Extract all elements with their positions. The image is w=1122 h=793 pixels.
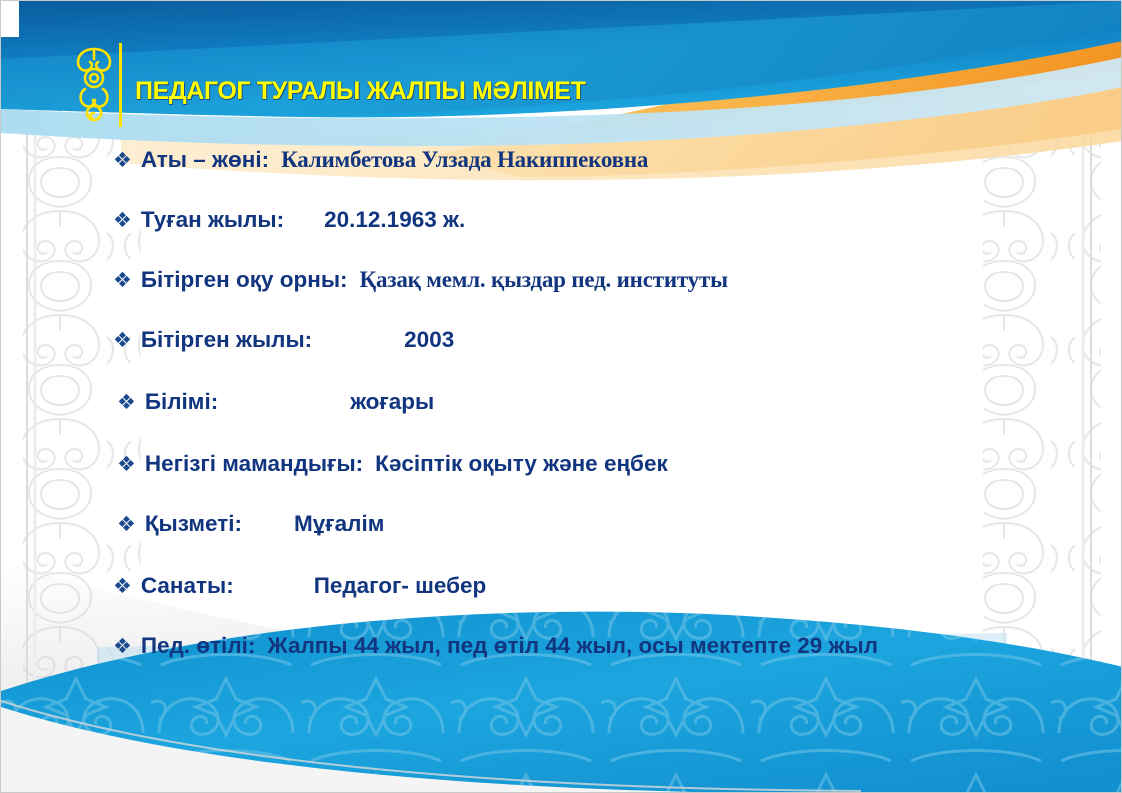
- list-item-experience: ❖ Пед. өтілі: Жалпы 44 жыл, пед өтіл 44 …: [113, 633, 878, 659]
- value-experience: Жалпы 44 жыл, пед өтіл 44 жыл, осы мекте…: [267, 633, 878, 659]
- label-specialty: Негізгі мамандығы:: [145, 451, 363, 477]
- diamond-bullet-icon: ❖: [113, 210, 132, 231]
- value-category: Педагог- шебер: [314, 573, 487, 599]
- label-position: Қызметі:: [145, 511, 242, 537]
- list-item-full-name: ❖ Аты – жөні: Калимбетова Улзада Накиппе…: [113, 147, 648, 173]
- corner-notch-icon: [1, 1, 19, 37]
- page-title: ПЕДАГОГ ТУРАЛЫ ЖАЛПЫ МӘЛІМЕТ: [135, 77, 585, 106]
- info-list: ❖ Аты – жөні: Калимбетова Улзада Накиппе…: [1, 133, 1122, 673]
- value-birth-year: 20.12.1963 ж.: [324, 207, 465, 233]
- label-institution: Бітірген оқу орны:: [141, 267, 348, 293]
- value-education: жоғары: [350, 389, 434, 415]
- value-graduation-year: 2003: [404, 327, 454, 353]
- list-item-graduation-year: ❖ Бітірген жылы: 2003: [113, 327, 454, 353]
- diamond-bullet-icon: ❖: [117, 392, 136, 413]
- diamond-bullet-icon: ❖: [113, 576, 132, 597]
- label-full-name: Аты – жөні:: [141, 147, 269, 173]
- vertical-rule-icon: [119, 43, 122, 127]
- list-item-education: ❖ Білімі: жоғары: [117, 389, 434, 415]
- label-education: Білімі:: [145, 389, 218, 415]
- list-item-birth-year: ❖ Туған жылы: 20.12.1963 ж.: [113, 207, 465, 233]
- value-specialty: Кәсіптік оқыту және еңбек: [375, 451, 668, 477]
- diamond-bullet-icon: ❖: [113, 330, 132, 351]
- value-institution: Қазақ мемл. қыздар пед. институты: [360, 267, 728, 293]
- value-position: Мұғалім: [294, 511, 384, 537]
- label-experience: Пед. өтілі:: [141, 633, 256, 659]
- label-birth-year: Туған жылы:: [141, 207, 284, 233]
- list-item-position: ❖ Қызметі: Мұғалім: [117, 511, 384, 537]
- list-item-institution: ❖ Бітірген оқу орны: Қазақ мемл. қыздар …: [113, 267, 728, 293]
- diamond-bullet-icon: ❖: [117, 454, 136, 475]
- diamond-bullet-icon: ❖: [113, 636, 132, 657]
- kazakh-ornament-icon: [73, 45, 115, 123]
- value-full-name: Калимбетова Улзада Накиппековна: [281, 147, 648, 173]
- list-item-specialty: ❖ Негізгі мамандығы: Кәсіптік оқыту және…: [117, 451, 668, 477]
- diamond-bullet-icon: ❖: [117, 514, 136, 535]
- diamond-bullet-icon: ❖: [113, 150, 132, 171]
- list-item-category: ❖ Санаты: Педагог- шебер: [113, 573, 486, 599]
- label-category: Санаты:: [141, 573, 234, 599]
- diamond-bullet-icon: ❖: [113, 270, 132, 291]
- label-graduation-year: Бітірген жылы:: [141, 327, 312, 353]
- slide: ПЕДАГОГ ТУРАЛЫ ЖАЛПЫ МӘЛІМЕТ ❖ Аты – жөн…: [0, 0, 1122, 793]
